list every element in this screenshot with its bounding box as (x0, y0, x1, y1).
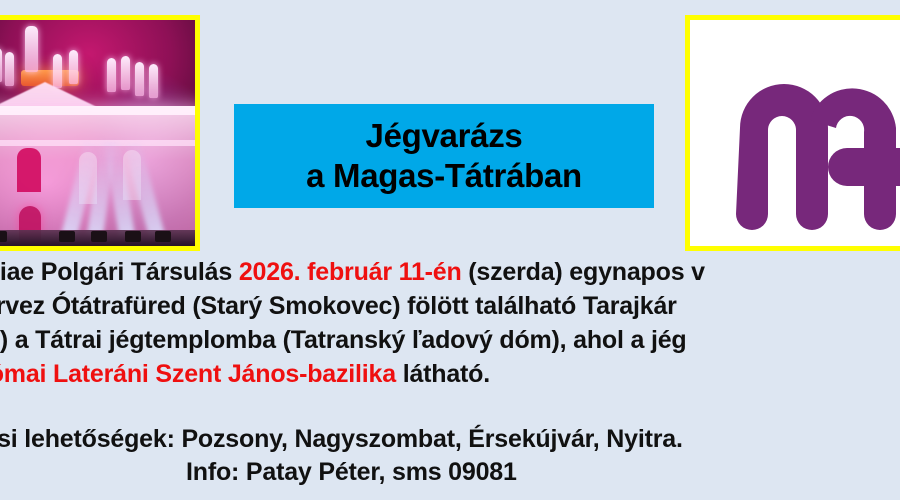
body-line-4: : Római Lateráni Szent János-bazilika lá… (0, 360, 490, 389)
body-line-1-post: (szerda) egynapos v (462, 258, 705, 286)
photo-statue (121, 56, 130, 90)
photo-statue (107, 58, 116, 92)
photo-lamp (0, 231, 7, 242)
title-line-1: Jégvarázs (366, 117, 523, 155)
photo-lamp (91, 231, 107, 242)
mariae-logo (685, 15, 900, 251)
photo-statue (0, 48, 2, 82)
ice-basilica-photo (0, 15, 200, 251)
body-line-4-post: látható. (396, 360, 490, 388)
poster-canvas: Jégvarázs a Magas-Tátrában Mariae Polgár… (0, 0, 900, 500)
title-banner: Jégvarázs a Magas-Tátrában (234, 104, 654, 208)
body-line-1: Mariae Polgári Társulás 2026. február 11… (0, 258, 705, 287)
photo-statue (149, 64, 158, 98)
body-line-1-pre: Mariae Polgári Társulás (0, 258, 239, 286)
body-line-3: nok) a Tátrai jégtemplomba (Tatranský ľa… (0, 326, 686, 355)
photo-background (0, 20, 195, 246)
body-line-1-date: 2026. február 11-én (239, 258, 462, 286)
photo-pediment (0, 82, 99, 108)
photo-lamp (59, 231, 75, 242)
body-line-5-boarding: ozási lehetőségek: Pozsony, Nagyszombat,… (0, 425, 683, 454)
photo-lamp (125, 231, 141, 242)
mariae-logo-icon (732, 48, 900, 233)
photo-statue (135, 62, 144, 96)
photo-window (17, 148, 41, 192)
photo-statue (25, 26, 38, 72)
title-line-2: a Magas-Tátrában (306, 157, 582, 195)
photo-statue (5, 52, 14, 86)
body-line-6-info: Info: Patay Péter, sms 09081 (186, 458, 517, 487)
photo-lamp (155, 231, 171, 242)
body-line-4-basilica: Római Lateráni Szent János-bazilika (0, 360, 396, 388)
photo-cornice (0, 106, 200, 115)
body-line-2: szervez Ótátrafüred (Starý Smokovec) föl… (0, 292, 677, 321)
photo-statue (69, 50, 78, 84)
